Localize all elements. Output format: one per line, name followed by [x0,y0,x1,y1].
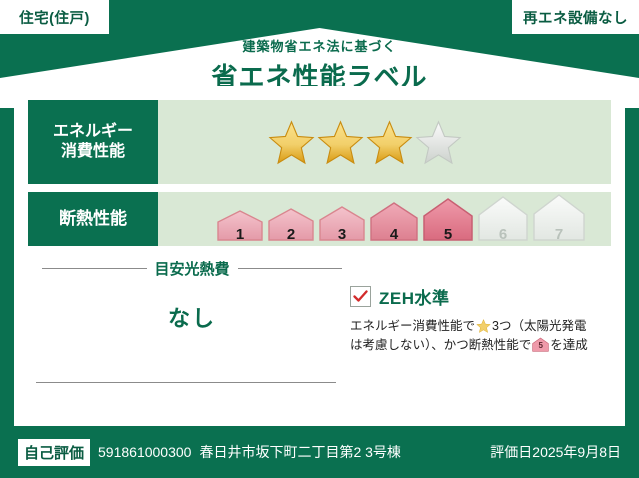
house-icon-level-7: 7 [532,192,586,247]
zeh-block: ZEH水準 エネルギー消費性能で3つ（太陽光発電 は考慮しない）、かつ断熱性能で… [350,284,612,356]
house-level-number: 7 [532,226,586,243]
star-rating [268,120,462,165]
star-icon-filled-2 [317,120,364,165]
zeh-desc-line2-a: は考慮しない）、かつ断熱性能で [350,338,531,352]
heading-rule-left [42,268,147,269]
insulation-label-text: 断熱性能 [59,208,127,229]
house-level-number: 4 [369,226,419,243]
house-icon-level-3: 3 [318,204,366,247]
house-icon-level-1: 1 [216,208,264,247]
energy-rating-body [158,100,611,184]
house-icon-inline-number: 5 [532,340,549,352]
house-icon-level-2: 2 [267,206,315,247]
house-level-number: 1 [216,226,264,243]
utility-cost-heading: 目安光熱費 [42,258,342,279]
insulation-rating-body: 1 2 3 [158,192,611,246]
house-icon-level-4: 4 [369,200,419,247]
evaluation-date: 評価日2025年9月8日 [490,442,621,462]
zeh-heading: ZEH水準 [350,284,612,309]
utility-cost-heading-text: 目安光熱費 [155,258,230,279]
building-type-text: 住宅(住戸) [19,7,90,28]
footer-content: 自己評価 591861000300 春日井市坂下町二丁目第2 3号棟 評価日20… [0,439,639,466]
house-icon-level-6: 6 [477,194,529,247]
zeh-desc-line1-b: 3つ（太陽光発電 [492,319,586,333]
house-level-number: 5 [422,226,474,243]
insulation-scale: 1 2 3 [216,192,586,247]
star-icon-empty-4 [415,120,462,165]
check-icon [353,290,368,303]
zeh-description: エネルギー消費性能で3つ（太陽光発電 は考慮しない）、かつ断熱性能で5を達成 [350,317,612,356]
star-icon-inline [476,319,491,333]
energy-performance-row: エネルギー 消費性能 [28,100,611,184]
star-icon-filled-3 [366,120,413,165]
label-footer: 自己評価 591861000300 春日井市坂下町二丁目第2 3号棟 評価日20… [0,426,639,478]
zeh-checkbox[interactable] [350,286,371,307]
utility-cost-bottom-rule [36,382,336,383]
utility-cost-block: 目安光熱費 なし [42,258,342,333]
house-icon-inline: 5 [532,337,549,352]
utility-cost-value: なし [42,301,342,333]
energy-performance-label: 住宅(住戸) 再エネ設備なし 建築物省エネ法に基づく 省エネ性能ラベル エネルギ… [0,0,639,478]
house-level-number: 2 [267,226,315,243]
zeh-desc-line1-a: エネルギー消費性能で [350,319,475,333]
renewable-energy-text: 再エネ設備なし [523,7,628,28]
insulation-performance-row: 断熱性能 1 [28,192,611,246]
self-evaluation-badge: 自己評価 [18,439,90,466]
label-id: 591861000300 [98,444,191,460]
house-level-number: 6 [477,226,529,243]
energy-label-line1: エネルギー [53,122,133,142]
heading-rule-right [238,268,343,269]
property-address: 春日井市坂下町二丁目第2 3号棟 [199,442,400,462]
energy-performance-label-box: エネルギー 消費性能 [28,100,158,184]
house-icon-level-5: 5 [422,196,474,247]
house-level-number: 3 [318,226,366,243]
label-card: エネルギー 消費性能 [14,86,625,426]
star-icon-filled-1 [268,120,315,165]
zeh-desc-line2-b: を達成 [550,338,588,352]
energy-label-line2: 消費性能 [61,142,125,162]
zeh-title: ZEH水準 [379,284,450,309]
insulation-performance-label-box: 断熱性能 [28,192,158,246]
